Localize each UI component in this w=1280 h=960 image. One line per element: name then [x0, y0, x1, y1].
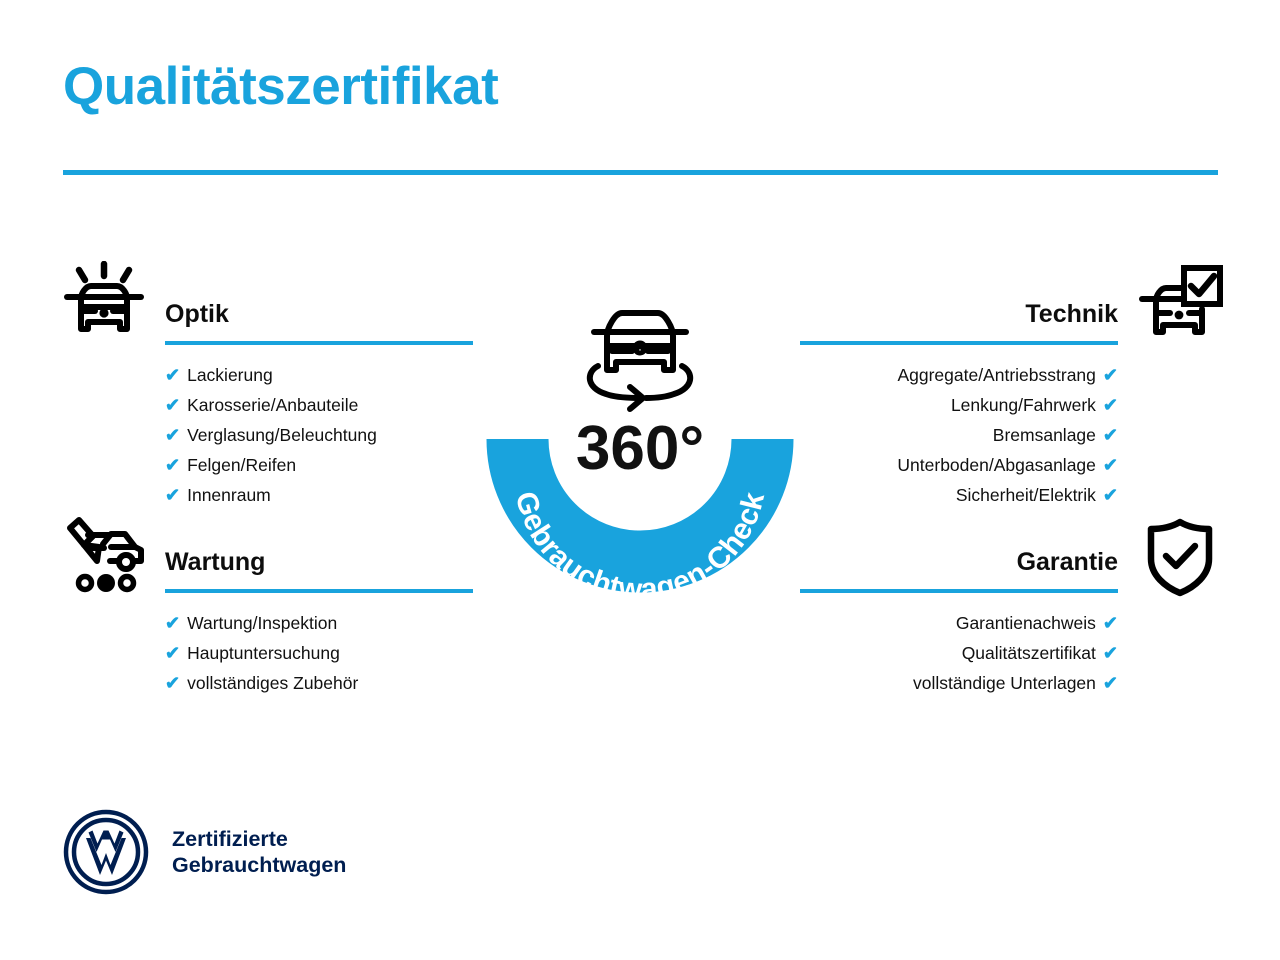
check-item: Bremsanlage✔ [800, 420, 1118, 450]
check-item: ✔Wartung/Inspektion [165, 608, 473, 638]
check-item: Aggregate/Antriebsstrang✔ [800, 360, 1118, 390]
check-icon: ✔ [165, 390, 180, 420]
check-item: ✔Lackierung [165, 360, 473, 390]
check-item: Garantienachweis✔ [800, 608, 1118, 638]
check-icon: ✔ [1103, 638, 1118, 668]
check-item-label: Qualitätszertifikat [962, 638, 1096, 668]
check-icon: ✔ [1103, 480, 1118, 510]
section-title-optik: Optik [165, 297, 473, 331]
check-item: Unterboden/Abgasanlage✔ [800, 450, 1118, 480]
check-icon: ✔ [165, 608, 180, 638]
section-divider-optik [165, 341, 473, 345]
section-divider-technik [800, 341, 1118, 345]
footer-text: Zertifizierte Gebrauchtwagen [172, 826, 346, 878]
check-icon: ✔ [1103, 450, 1118, 480]
check-item: vollständige Unterlagen✔ [800, 668, 1118, 698]
check-item-label: Innenraum [187, 480, 271, 510]
check-icon: ✔ [1103, 360, 1118, 390]
check-item-label: Sicherheit/Elektrik [956, 480, 1096, 510]
check-icon: ✔ [1103, 668, 1118, 698]
car-checkbox-icon [1136, 264, 1224, 347]
section-title-wartung: Wartung [165, 545, 473, 579]
check-list-wartung: ✔Wartung/Inspektion✔Hauptuntersuchung✔vo… [165, 608, 473, 698]
certificate-page: Qualitätszertifikat [0, 0, 1280, 960]
vw-logo [62, 808, 150, 896]
shield-check-icon [1142, 517, 1218, 602]
check-list-technik: Aggregate/Antriebsstrang✔Lenkung/Fahrwer… [800, 360, 1118, 510]
check-icon: ✔ [165, 450, 180, 480]
check-icon: ✔ [1103, 608, 1118, 638]
page-title: Qualitätszertifikat [63, 58, 498, 116]
section-garantie: GarantieGarantienachweis✔Qualitätszertif… [800, 545, 1118, 698]
check-item: ✔Karosserie/Anbauteile [165, 390, 473, 420]
check-item: ✔Felgen/Reifen [165, 450, 473, 480]
check-item-label: Unterboden/Abgasanlage [897, 450, 1096, 480]
section-technik: TechnikAggregate/Antriebsstrang✔Lenkung/… [800, 297, 1118, 510]
check-item-label: Wartung/Inspektion [187, 608, 337, 638]
section-optik: Optik✔Lackierung✔Karosserie/Anbauteile✔V… [165, 297, 473, 510]
check-item: ✔Verglasung/Beleuchtung [165, 420, 473, 450]
badge-center-label: 360° [576, 414, 704, 483]
check-list-optik: ✔Lackierung✔Karosserie/Anbauteile✔Vergla… [165, 360, 473, 510]
check-icon: ✔ [1103, 390, 1118, 420]
section-divider-garantie [800, 589, 1118, 593]
check-item-label: Bremsanlage [993, 420, 1096, 450]
section-header-optik: Optik [165, 297, 473, 349]
check-icon: ✔ [165, 480, 180, 510]
section-header-wartung: Wartung [165, 545, 473, 597]
section-title-technik: Technik [800, 297, 1118, 331]
check-item: ✔Hauptuntersuchung [165, 638, 473, 668]
check-item: Qualitätszertifikat✔ [800, 638, 1118, 668]
check-item-label: Lackierung [187, 360, 273, 390]
section-header-technik: Technik [800, 297, 1118, 349]
check-icon: ✔ [165, 638, 180, 668]
check-item: ✔vollständiges Zubehör [165, 668, 473, 698]
check-item-label: Lenkung/Fahrwerk [951, 390, 1096, 420]
section-title-garantie: Garantie [800, 545, 1118, 579]
check-item: ✔Innenraum [165, 480, 473, 510]
check-item-label: Garantienachweis [956, 608, 1096, 638]
section-header-garantie: Garantie [800, 545, 1118, 597]
check-icon: ✔ [1103, 420, 1118, 450]
check-item-label: Verglasung/Beleuchtung [187, 420, 377, 450]
check-item-label: Karosserie/Anbauteile [187, 390, 358, 420]
footer-line-2: Gebrauchtwagen [172, 852, 346, 878]
check-icon: ✔ [165, 420, 180, 450]
section-wartung: Wartung✔Wartung/Inspektion✔Hauptuntersuc… [165, 545, 473, 698]
check-icon: ✔ [165, 360, 180, 390]
check-icon: ✔ [165, 668, 180, 698]
check-item: Sicherheit/Elektrik✔ [800, 480, 1118, 510]
car-service-pencil-icon [59, 514, 153, 599]
check-item-label: Hauptuntersuchung [187, 638, 340, 668]
car-shine-icon [61, 261, 147, 350]
check-item-label: vollständiges Zubehör [187, 668, 358, 698]
footer-logo-block: Zertifizierte Gebrauchtwagen [62, 808, 346, 896]
header-divider [63, 170, 1218, 175]
check-item: Lenkung/Fahrwerk✔ [800, 390, 1118, 420]
check-item-label: vollständige Unterlagen [913, 668, 1096, 698]
badge-360-gebrauchtwagen-check: Gebrauchtwagen-Check 360° [470, 250, 810, 630]
check-item-label: Aggregate/Antriebsstrang [897, 360, 1095, 390]
section-divider-wartung [165, 589, 473, 593]
check-list-garantie: Garantienachweis✔Qualitätszertifikat✔vol… [800, 608, 1118, 698]
check-item-label: Felgen/Reifen [187, 450, 296, 480]
footer-line-1: Zertifizierte [172, 826, 346, 852]
